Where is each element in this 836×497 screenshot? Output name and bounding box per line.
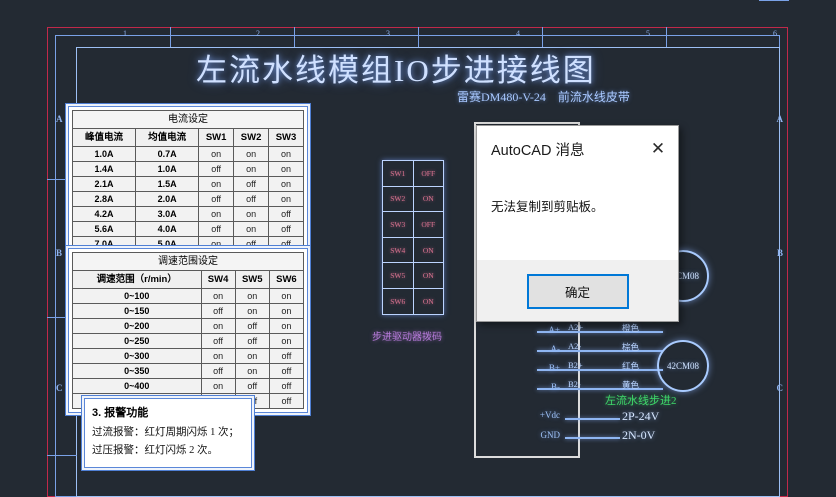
alarm-note-title: 3. 报警功能 [92,404,244,420]
frame-col-number-3: 3 [386,29,390,38]
table-cell: on [199,207,234,222]
dialog-title: AutoCAD 消息 [491,139,644,160]
driver-terminal-b-plus: B+ [494,363,560,373]
table-cell: off [269,349,303,364]
table-row: 4.2A3.0Aononoff [73,207,304,222]
table-column-header: SW6 [269,271,303,289]
frame-row-tick [47,455,77,456]
dip-switch-row: SW6ON [383,289,443,315]
dip-switch-name: SW6 [383,289,414,315]
table-column-header: 调速范围（r/min） [73,271,202,289]
dialog-footer: 确定 [477,260,678,321]
table-cell: off [235,319,269,334]
table-row: 2.1A1.5Aonoffon [73,177,304,192]
table-cell: on [234,207,269,222]
motor2-wire-a2m [537,350,663,352]
frame-col-tick [170,27,171,47]
table-cell: 0.7A [136,147,199,162]
driver-terminal-gnd: GND [494,430,560,440]
table-cell: 2.8A [73,192,136,207]
motor2-wire-color-a2p: 橙色 [622,322,639,334]
table-caption-row: 电流设定 [73,111,304,129]
dip-switch-row: SW2ON [383,187,443,213]
table-cell: on [201,289,235,304]
table-row: 1.0A0.7Aononon [73,147,304,162]
table-cell: 5.6A [73,222,136,237]
current-settings-table: 电流设定峰值电流均值电流SW1SW2SW31.0A0.7Aononon1.4A1… [72,110,304,267]
table-cell: 1.0A [136,162,199,177]
table-row: 0~350offonoff [73,364,304,379]
table-cell: 1.5A [136,177,199,192]
table-cell: off [201,334,235,349]
table-cell: off [199,192,234,207]
table-cell: on [199,177,234,192]
motor2-terminal-b2m: B2- [568,379,581,389]
dip-switch-name: SW4 [383,238,414,263]
dip-switch-row: SW4ON [383,238,443,264]
table-cell: 2.0A [136,192,199,207]
table-row: 0~250offoffon [73,334,304,349]
table-column-header: SW5 [235,271,269,289]
table-column-header: 均值电流 [136,129,199,147]
table-cell: off [201,304,235,319]
dip-switch-name: SW1 [383,161,414,186]
ok-button[interactable]: 确定 [527,274,629,309]
motor2-wire-color-b2m: 黄色 [622,379,639,391]
frame-row-letter-a-right: A [777,114,784,124]
motor2-label: 左流水线步进2 [605,392,677,408]
motor2-wire-color-a2m: 棕色 [622,341,639,353]
dialog-titlebar[interactable]: AutoCAD 消息 ✕ [477,126,678,172]
frame-col-number-5: 5 [646,29,650,38]
table-row: 2.8A2.0Aoffoffon [73,192,304,207]
table-column-header: SW1 [199,129,234,147]
table-cell: 0~350 [73,364,202,379]
power-label-negative: 2N-0V [622,428,655,443]
table-cell: on [269,334,303,349]
motor2-terminal-a2m: A2- [568,341,581,351]
table-cell: on [269,289,303,304]
frame-row-letter-b-left: B [56,248,62,258]
frame-col-tick [418,27,419,47]
table-cell: on [235,364,269,379]
drawing-title: 左流水线模组IO步进接线图 [196,45,596,90]
table-caption-row: 调速范围设定 [73,253,304,271]
frame-row-letter-b-right: B [777,248,783,258]
table-cell: on [199,147,234,162]
frame-col-number-2: 2 [256,29,260,38]
motor2-symbol: 42CM08 [657,340,709,392]
close-icon[interactable]: ✕ [644,136,672,162]
table-column-header: SW2 [234,129,269,147]
table-cell: off [234,177,269,192]
driver-terminal-b-minus: B- [494,382,560,392]
dip-switch-state: OFF [414,161,444,186]
dip-switch-name: SW3 [383,212,414,237]
motor2-terminal-a2p: A2+ [568,322,583,332]
table-cell: 4.2A [73,207,136,222]
frame-col-tick [294,27,295,47]
table-cell: 2.1A [73,177,136,192]
table-row: 0~300ononoff [73,349,304,364]
drawing-subtitle: 雷赛DM480-V-24 前流水线皮带 [457,88,630,105]
table-cell: off [269,222,304,237]
alarm-note-line-2: 过压报警：红灯闪烁 2 次。 [92,442,244,460]
frame-row-letter-c-right: C [777,383,784,393]
table-column-header: SW3 [269,129,304,147]
dip-switch-state: ON [414,289,444,315]
table-cell: off [199,222,234,237]
table-column-header: 峰值电流 [73,129,136,147]
table-cell: on [269,162,304,177]
table-row: 5.6A4.0Aoffonoff [73,222,304,237]
table-cell: on [235,289,269,304]
dip-switch-block: SW1OFFSW2ONSW3OFFSW4ONSW5ONSW6ON [382,160,444,315]
dip-switch-row: SW1OFF [383,161,443,187]
table-cell: off [199,162,234,177]
table-cell: off [234,192,269,207]
table-cell: 3.0A [136,207,199,222]
table-cell: on [235,304,269,319]
motor2-terminal-b2p: B2+ [568,360,583,370]
driver-terminal-vdc: +Vdc [494,410,560,420]
frame-col-tick [666,27,667,47]
power-wire-positive [565,418,620,420]
table-cell: 1.0A [73,147,136,162]
frame-row-letter-a-left: A [56,114,63,124]
dip-switch-block-label: 步进驱动器拨码 [372,328,442,343]
table-row: 0~150offonon [73,304,304,319]
table-header-row: 峰值电流均值电流SW1SW2SW3 [73,129,304,147]
table-cell: on [235,349,269,364]
table-cell: off [269,364,303,379]
alarm-function-note: 3. 报警功能 过流报警：红灯周期闪烁 1 次； 过压报警：红灯闪烁 2 次。 [84,398,252,468]
table-row: 0~200onoffon [73,319,304,334]
frame-col-number-1: 1 [123,29,127,38]
motor2-wire-a2p [537,331,663,333]
table-cell: off [235,334,269,349]
dip-switch-state: ON [414,263,444,288]
table-cell: 1.4A [73,162,136,177]
table-caption: 电流设定 [73,111,304,129]
motor2-wire-color-b2p: 红色 [622,360,639,372]
table-cell: on [269,192,304,207]
table-cell: 0~250 [73,334,202,349]
speed-range-table: 调速范围设定调速范围（r/min）SW4SW5SW60~100ononon0~1… [72,252,304,409]
table-cell: 0~400 [73,379,202,394]
table-cell: on [269,304,303,319]
table-cell: off [201,364,235,379]
table-cell: 4.0A [136,222,199,237]
table-row: 0~400onoffoff [73,379,304,394]
alarm-note-line-1: 过流报警：红灯周期闪烁 1 次； [92,424,244,442]
table-cell: on [269,177,304,192]
table-cell: off [269,379,303,394]
table-cell: on [201,349,235,364]
dialog-message-text: 无法复制到剪贴板。 [491,198,664,216]
table-row: 1.4A1.0Aoffonon [73,162,304,177]
table-cell: on [201,319,235,334]
driver-terminal-a-plus: A+ [494,325,560,335]
table-cell: 0~100 [73,289,202,304]
frame-row-tick [759,0,789,1]
motor2-wire-b2p [537,369,663,371]
table-cell: off [235,379,269,394]
table-cell: on [269,147,304,162]
driver-terminal-a-minus: A- [494,344,560,354]
frame-col-number-6: 6 [773,29,777,38]
table-row: 0~100ononon [73,289,304,304]
speed-range-table-box: 调速范围设定调速范围（r/min）SW4SW5SW60~100ononon0~1… [68,248,308,413]
dip-switch-state: ON [414,187,444,212]
table-cell: 0~200 [73,319,202,334]
table-caption: 调速范围设定 [73,253,304,271]
dip-switch-row: SW5ON [383,263,443,289]
table-cell: on [269,319,303,334]
dip-switch-name: SW5 [383,263,414,288]
table-header-row: 调速范围（r/min）SW4SW5SW6 [73,271,304,289]
motor2-wire-b2m [537,388,663,390]
dip-switch-row: SW3OFF [383,212,443,238]
cad-drawing-canvas[interactable]: 1 2 3 4 5 6 A B C A B C 左流水线模组IO步进接线图 雷赛… [0,0,836,487]
frame-row-letter-c-left: C [56,383,63,393]
dip-switch-state: ON [414,238,444,263]
dip-switch-state: OFF [414,212,444,237]
table-cell: on [201,379,235,394]
dip-switch-name: SW2 [383,187,414,212]
table-column-header: SW4 [201,271,235,289]
table-cell: on [234,162,269,177]
table-cell: 0~300 [73,349,202,364]
frame-col-tick [542,27,543,47]
table-cell: off [269,207,304,222]
power-label-positive: 2P-24V [622,409,659,424]
frame-col-number-4: 4 [516,29,520,38]
table-cell: 0~150 [73,304,202,319]
table-cell: on [234,147,269,162]
autocad-message-dialog[interactable]: AutoCAD 消息 ✕ 无法复制到剪贴板。 确定 [476,125,679,322]
power-wire-negative [565,437,620,439]
current-settings-table-box: 电流设定峰值电流均值电流SW1SW2SW31.0A0.7Aononon1.4A1… [68,106,308,271]
dialog-body: 无法复制到剪贴板。 [477,172,678,260]
table-cell: on [234,222,269,237]
table-cell: off [269,394,303,409]
